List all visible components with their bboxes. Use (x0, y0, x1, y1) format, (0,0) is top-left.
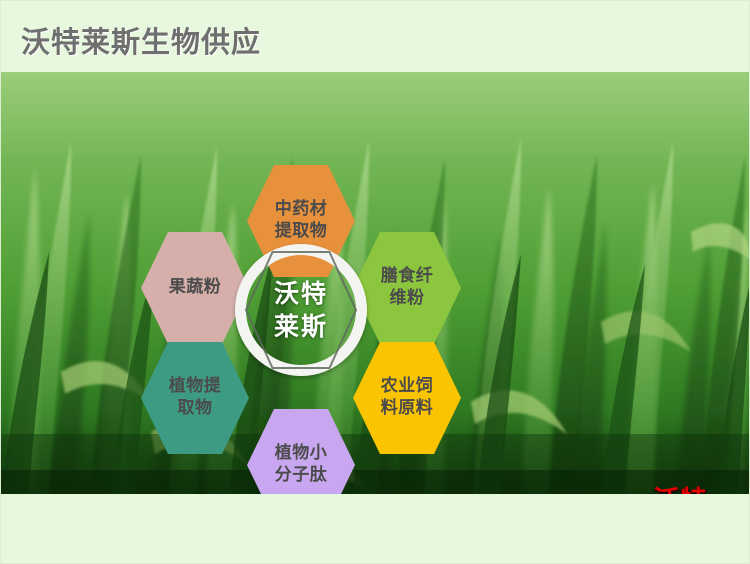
hero-banner: 果蔬粉 中药材提取物 膳食纤维粉 农业饲料原料 植物小分子肽 植物提取物 (1, 72, 750, 494)
hex-node-agricultural-feed-material[interactable]: 农业饲料原料 (353, 342, 461, 454)
hex-label-plant-extract: 植物提取物 (158, 376, 232, 420)
page-title: 沃特莱斯生物供应 (21, 19, 261, 61)
hex-label-plant-small-molecule-peptide: 植物小分子肽 (264, 443, 338, 487)
slide-page: 沃特莱斯生物供应 (0, 0, 750, 564)
brand-watermark: 沃特莱斯 (653, 487, 707, 494)
hex-node-plant-extract[interactable]: 植物提取物 (141, 342, 249, 454)
hex-node-dietary-fiber-powder[interactable]: 膳食纤维粉 (353, 232, 461, 344)
hex-node-fruit-vegetable-powder[interactable]: 果蔬粉 (141, 232, 249, 344)
hex-label-dietary-fiber-powder: 膳食纤维粉 (370, 266, 444, 310)
hex-label-agricultural-feed-material: 农业饲料原料 (370, 376, 444, 420)
page-header: 沃特莱斯生物供应 (1, 1, 750, 72)
hex-label-fruit-vegetable-powder: 果蔬粉 (158, 277, 232, 299)
hex-node-center-brand[interactable]: 沃特莱斯 (244, 250, 358, 370)
footer-band (1, 494, 750, 564)
center-brand-label: 沃特莱斯 (266, 277, 336, 343)
hex-label-herbal-extract: 中药材提取物 (264, 199, 338, 243)
hex-node-plant-small-molecule-peptide[interactable]: 植物小分子肽 (247, 409, 355, 494)
hexagon-diagram: 果蔬粉 中药材提取物 膳食纤维粉 农业饲料原料 植物小分子肽 植物提取物 (1, 72, 750, 494)
